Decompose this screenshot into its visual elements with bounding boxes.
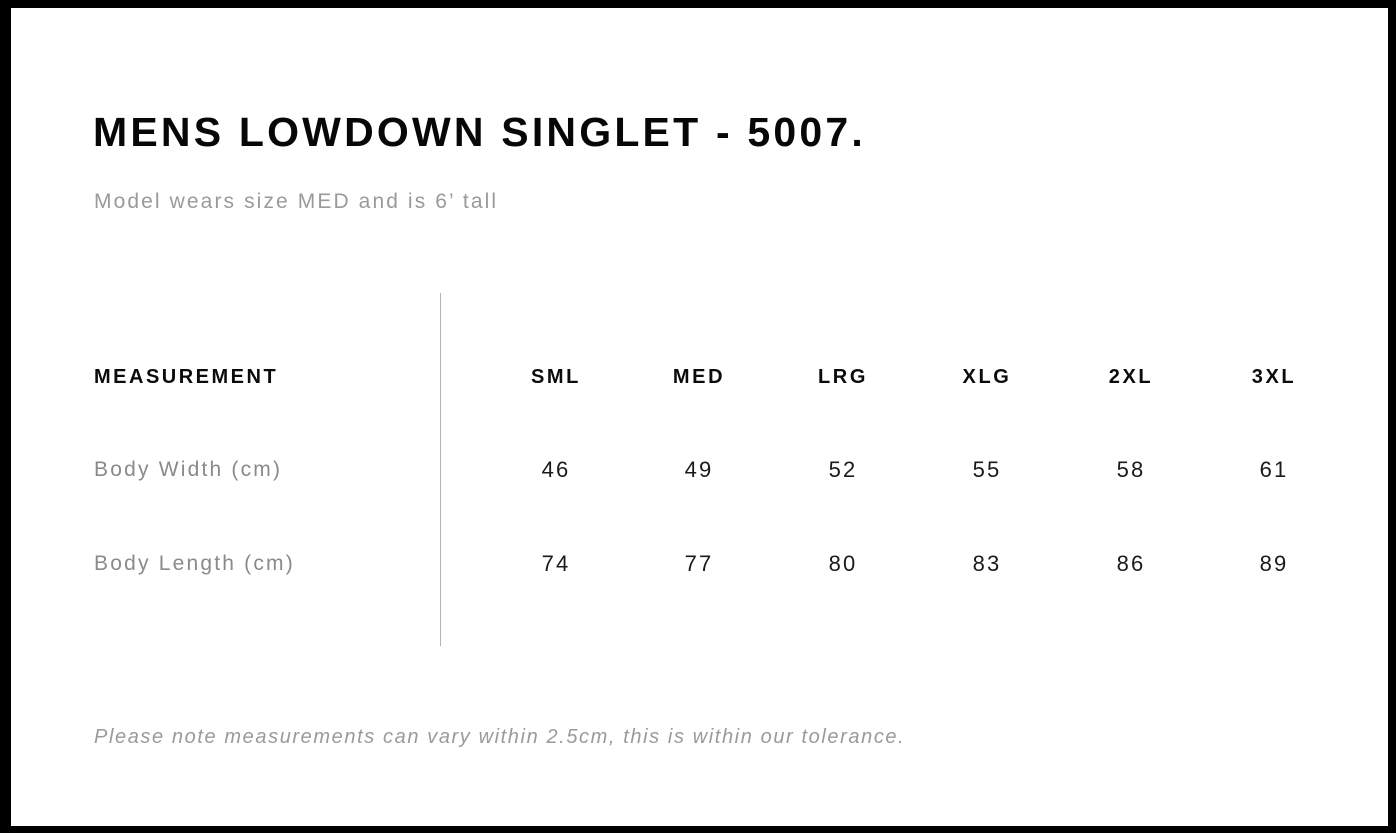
model-fit-note: Model wears size MED and is 6’ tall (94, 191, 498, 212)
page-title: MENS LOWDOWN SINGLET - 5007. (93, 112, 866, 153)
cell-body-length-lrg: 80 (783, 544, 903, 584)
cell-body-length-3xl: 89 (1214, 544, 1334, 584)
cell-body-width-xlg: 55 (927, 450, 1047, 490)
table-row: Body Length (cm) 74 77 80 83 86 89 (11, 544, 1388, 584)
column-header-measurement: MEASUREMENT (94, 357, 278, 397)
row-label-body-width: Body Width (cm) (94, 450, 282, 490)
size-chart-card: MENS LOWDOWN SINGLET - 5007. Model wears… (11, 8, 1388, 826)
table-header-row: MEASUREMENT SML MED LRG XLG 2XL 3XL (11, 357, 1388, 397)
column-header-size-med: MED (639, 357, 759, 397)
cell-body-width-2xl: 58 (1071, 450, 1191, 490)
size-chart-page: MENS LOWDOWN SINGLET - 5007. Model wears… (0, 0, 1396, 833)
cell-body-length-xlg: 83 (927, 544, 1047, 584)
cell-body-length-med: 77 (639, 544, 759, 584)
cell-body-width-sml: 46 (496, 450, 616, 490)
cell-body-length-2xl: 86 (1071, 544, 1191, 584)
cell-body-width-lrg: 52 (783, 450, 903, 490)
table-row: Body Width (cm) 46 49 52 55 58 61 (11, 450, 1388, 490)
cell-body-width-med: 49 (639, 450, 759, 490)
cell-body-length-sml: 74 (496, 544, 616, 584)
column-header-size-3xl: 3XL (1214, 357, 1334, 397)
column-header-size-sml: SML (496, 357, 616, 397)
column-header-size-xlg: XLG (927, 357, 1047, 397)
row-label-body-length: Body Length (cm) (94, 544, 295, 584)
tolerance-note: Please note measurements can vary within… (94, 727, 905, 747)
column-header-size-lrg: LRG (783, 357, 903, 397)
column-header-size-2xl: 2XL (1071, 357, 1191, 397)
cell-body-width-3xl: 61 (1214, 450, 1334, 490)
